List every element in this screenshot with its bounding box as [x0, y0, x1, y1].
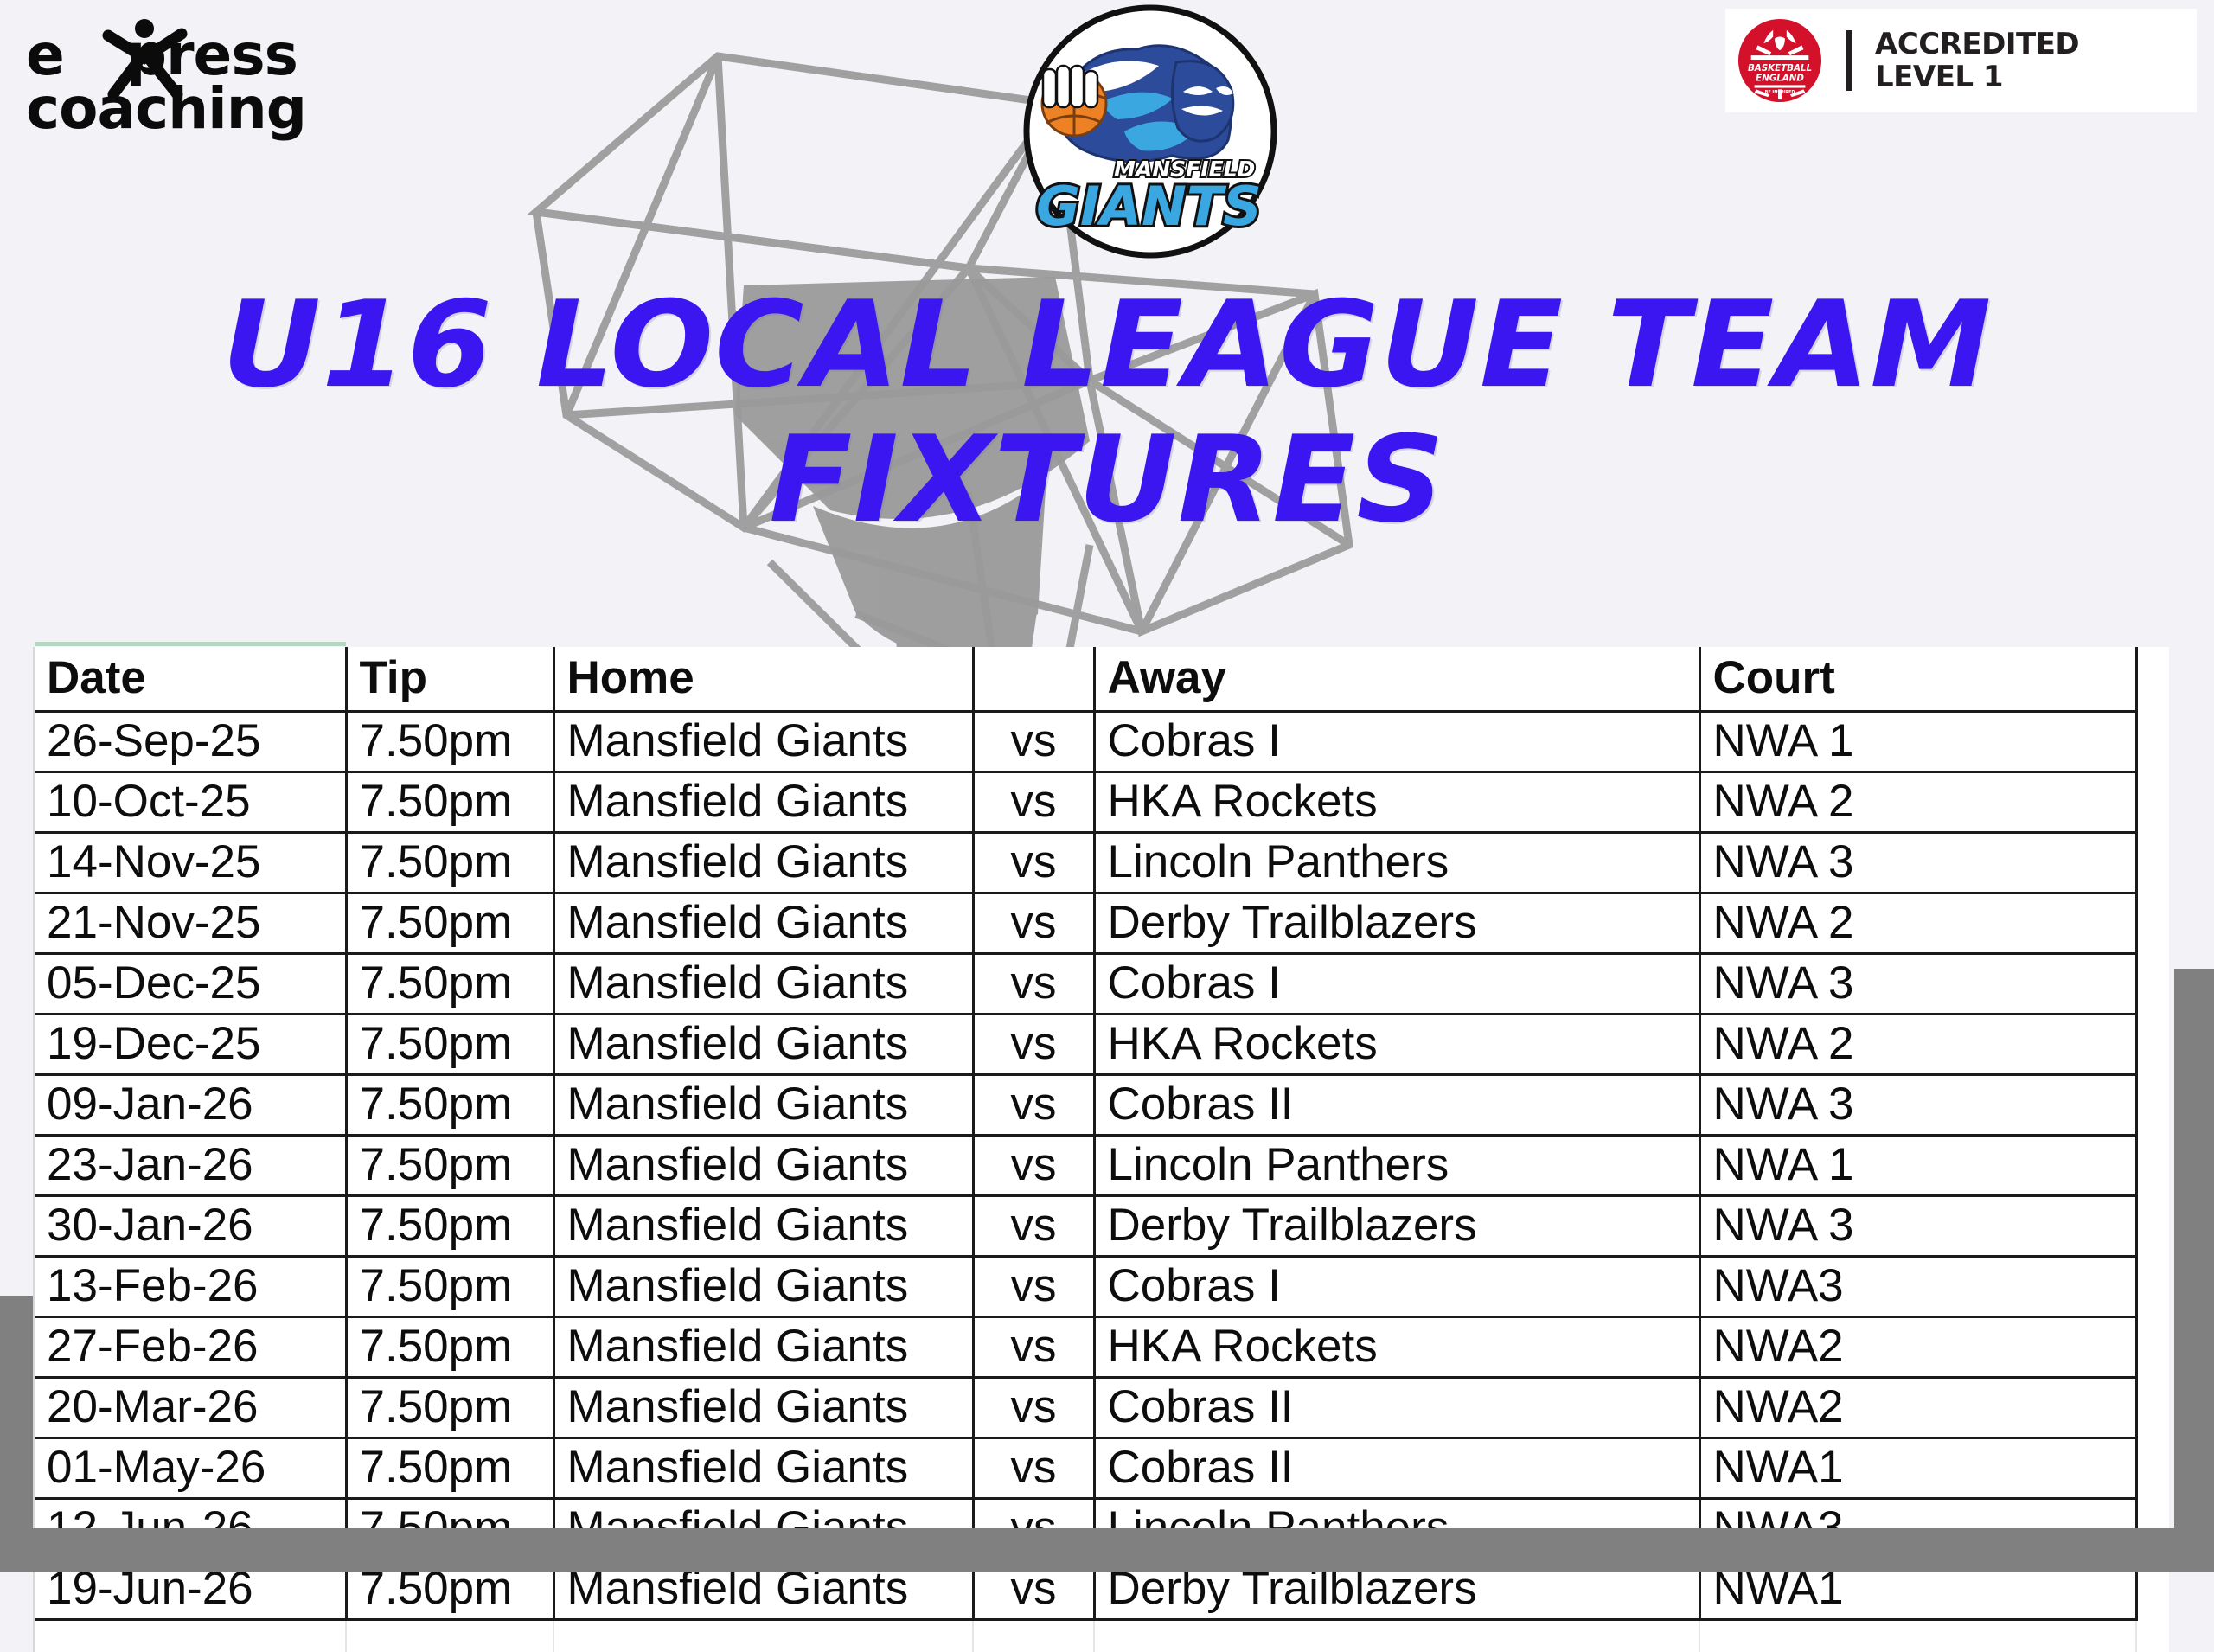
row-spare-cell: [2136, 833, 2169, 893]
fixture-court[interactable]: NWA 1: [1699, 1136, 2136, 1196]
table-row[interactable]: 30-Jan-267.50pmMansfield GiantsvsDerby T…: [35, 1196, 2169, 1257]
table-row[interactable]: 10-Oct-257.50pmMansfield GiantsvsHKA Roc…: [35, 772, 2169, 833]
fixture-court[interactable]: NWA 2: [1699, 1015, 2136, 1075]
basketball-england-logo-icon: BASKETBALL ENGLAND BE INSPIRED: [1737, 18, 1822, 103]
empty-cell[interactable]: [35, 1620, 346, 1652]
fixture-date[interactable]: 23-Jan-26: [35, 1136, 346, 1196]
table-header-row: Date Tip Home Away Court: [35, 647, 2169, 712]
fixture-court[interactable]: NWA 3: [1699, 1196, 2136, 1257]
empty-cell[interactable]: [346, 1620, 553, 1652]
fixture-date[interactable]: 27-Feb-26: [35, 1317, 346, 1378]
fixture-tip-time[interactable]: 7.50pm: [346, 1015, 553, 1075]
fixture-away-team[interactable]: Lincoln Panthers: [1094, 1136, 1699, 1196]
fixture-date[interactable]: 01-May-26: [35, 1438, 346, 1499]
fixture-vs-label[interactable]: vs: [973, 893, 1094, 954]
fixture-court[interactable]: NWA3: [1699, 1257, 2136, 1317]
row-spare-cell: [2136, 772, 2169, 833]
fixture-date[interactable]: 30-Jan-26: [35, 1196, 346, 1257]
empty-cell[interactable]: [1094, 1620, 1699, 1652]
frame-edge-bottom: [0, 1528, 2214, 1572]
fixture-vs-label[interactable]: vs: [973, 772, 1094, 833]
fixture-tip-time[interactable]: 7.50pm: [346, 1378, 553, 1438]
fixture-home-team[interactable]: Mansfield Giants: [553, 1378, 973, 1438]
fixture-vs-label[interactable]: vs: [973, 1075, 1094, 1136]
fixture-home-team[interactable]: Mansfield Giants: [553, 833, 973, 893]
empty-cell[interactable]: [1699, 1620, 2136, 1652]
column-header-vs[interactable]: [973, 647, 1094, 712]
fixture-court[interactable]: NWA1: [1699, 1438, 2136, 1499]
fixture-tip-time[interactable]: 7.50pm: [346, 1136, 553, 1196]
fixture-date[interactable]: 10-Oct-25: [35, 772, 346, 833]
fixture-home-team[interactable]: Mansfield Giants: [553, 1075, 973, 1136]
fixture-date[interactable]: 05-Dec-25: [35, 954, 346, 1015]
express-logo-line2: coaching: [26, 75, 306, 142]
fixture-court[interactable]: NWA 3: [1699, 954, 2136, 1015]
row-spare-cell: [2136, 1196, 2169, 1257]
table-row[interactable]: 01-May-267.50pmMansfield GiantsvsCobras …: [35, 1438, 2169, 1499]
table-row[interactable]: 19-Dec-257.50pmMansfield GiantsvsHKA Roc…: [35, 1015, 2169, 1075]
fixture-vs-label[interactable]: vs: [973, 712, 1094, 772]
row-spare-cell: [2136, 1075, 2169, 1136]
frame-edge-right: [2174, 969, 2214, 1572]
column-header-court[interactable]: Court: [1699, 647, 2136, 712]
fixture-away-team[interactable]: Cobras II: [1094, 1438, 1699, 1499]
fixture-away-team[interactable]: HKA Rockets: [1094, 1317, 1699, 1378]
fixture-court[interactable]: NWA 1: [1699, 712, 2136, 772]
fixture-tip-time[interactable]: 7.50pm: [346, 712, 553, 772]
be-line1: BASKETBALL: [1748, 63, 1812, 74]
table-row[interactable]: 27-Feb-267.50pmMansfield GiantsvsHKA Roc…: [35, 1317, 2169, 1378]
fixture-away-team[interactable]: Derby Trailblazers: [1094, 1196, 1699, 1257]
fixture-tip-time[interactable]: 7.50pm: [346, 772, 553, 833]
fixtures-table-body: 26-Sep-257.50pmMansfield GiantsvsCobras …: [35, 712, 2169, 1652]
fixture-court[interactable]: NWA2: [1699, 1378, 2136, 1438]
accreditation-divider: [1846, 30, 1852, 91]
empty-spare-cell: [2136, 1620, 2169, 1652]
table-row[interactable]: 23-Jan-267.50pmMansfield GiantsvsLincoln…: [35, 1136, 2169, 1196]
fixture-away-team[interactable]: Cobras II: [1094, 1378, 1699, 1438]
fixture-court[interactable]: NWA 2: [1699, 772, 2136, 833]
fixture-home-team[interactable]: Mansfield Giants: [553, 1196, 973, 1257]
row-spare-cell: [2136, 1317, 2169, 1378]
table-row[interactable]: 21-Nov-257.50pmMansfield GiantsvsDerby T…: [35, 893, 2169, 954]
fixture-vs-label[interactable]: vs: [973, 954, 1094, 1015]
crest-giants-text: GIANTS: [1036, 175, 1262, 238]
fixture-home-team[interactable]: Mansfield Giants: [553, 772, 973, 833]
fixture-away-team[interactable]: Cobras II: [1094, 1075, 1699, 1136]
fixture-date[interactable]: 14-Nov-25: [35, 833, 346, 893]
row-spare-cell: [2136, 712, 2169, 772]
level-label: LEVEL 1: [1875, 61, 2079, 93]
row-spare-cell: [2136, 954, 2169, 1015]
fixture-home-team[interactable]: Mansfield Giants: [553, 1438, 973, 1499]
column-header-away[interactable]: Away: [1094, 647, 1699, 712]
table-row[interactable]: 14-Nov-257.50pmMansfield GiantsvsLincoln…: [35, 833, 2169, 893]
fixture-date[interactable]: 19-Dec-25: [35, 1015, 346, 1075]
table-row[interactable]: 05-Dec-257.50pmMansfield GiantsvsCobras …: [35, 954, 2169, 1015]
row-spare-cell: [2136, 893, 2169, 954]
fixture-away-team[interactable]: Cobras I: [1094, 954, 1699, 1015]
fixture-vs-label[interactable]: vs: [973, 1378, 1094, 1438]
fixture-court[interactable]: NWA 3: [1699, 833, 2136, 893]
fixtures-spreadsheet[interactable]: Date Tip Home Away Court 26-Sep-257.50pm…: [33, 647, 2169, 1652]
be-line2: ENGLAND: [1756, 74, 1804, 84]
fixture-tip-time[interactable]: 7.50pm: [346, 1438, 553, 1499]
fixture-away-team[interactable]: Derby Trailblazers: [1094, 893, 1699, 954]
accredited-label: ACCREDITED: [1875, 28, 2079, 61]
table-row[interactable]: 26-Sep-257.50pmMansfield GiantsvsCobras …: [35, 712, 2169, 772]
fixture-court[interactable]: NWA2: [1699, 1317, 2136, 1378]
fixture-tip-time[interactable]: 7.50pm: [346, 1196, 553, 1257]
fixture-vs-label[interactable]: vs: [973, 1015, 1094, 1075]
fixture-home-team[interactable]: Mansfield Giants: [553, 1317, 973, 1378]
fixtures-table[interactable]: Date Tip Home Away Court 26-Sep-257.50pm…: [35, 647, 2169, 1652]
fixture-tip-time[interactable]: 7.50pm: [346, 893, 553, 954]
table-empty-row[interactable]: [35, 1620, 2169, 1652]
fixture-home-team[interactable]: Mansfield Giants: [553, 712, 973, 772]
fixture-vs-label[interactable]: vs: [973, 1257, 1094, 1317]
fixture-tip-time[interactable]: 7.50pm: [346, 954, 553, 1015]
fixture-home-team[interactable]: Mansfield Giants: [553, 954, 973, 1015]
express-coaching-logo: epress coaching: [17, 22, 381, 143]
row-spare-cell: [2136, 1015, 2169, 1075]
row-spare-cell: [2136, 1378, 2169, 1438]
fixture-court[interactable]: NWA 3: [1699, 1075, 2136, 1136]
fixture-date[interactable]: 20-Mar-26: [35, 1378, 346, 1438]
row-spare-cell: [2136, 1136, 2169, 1196]
fixture-home-team[interactable]: Mansfield Giants: [553, 1136, 973, 1196]
fixture-date[interactable]: 26-Sep-25: [35, 712, 346, 772]
fixture-home-team[interactable]: Mansfield Giants: [553, 1257, 973, 1317]
empty-cell[interactable]: [973, 1620, 1094, 1652]
empty-cell[interactable]: [553, 1620, 973, 1652]
fixture-vs-label[interactable]: vs: [973, 1317, 1094, 1378]
table-row[interactable]: 13-Feb-267.50pmMansfield GiantsvsCobras …: [35, 1257, 2169, 1317]
fixture-away-team[interactable]: HKA Rockets: [1094, 772, 1699, 833]
column-header-date[interactable]: Date: [35, 647, 346, 712]
table-row[interactable]: 09-Jan-267.50pmMansfield GiantsvsCobras …: [35, 1075, 2169, 1136]
column-header-tip[interactable]: Tip: [346, 647, 553, 712]
fixture-date[interactable]: 13-Feb-26: [35, 1257, 346, 1317]
fixture-tip-time[interactable]: 7.50pm: [346, 833, 553, 893]
fixture-away-team[interactable]: Cobras I: [1094, 712, 1699, 772]
fixture-away-team[interactable]: Lincoln Panthers: [1094, 833, 1699, 893]
fixture-home-team[interactable]: Mansfield Giants: [553, 1015, 973, 1075]
fixture-tip-time[interactable]: 7.50pm: [346, 1075, 553, 1136]
poster-header: epress coaching MANSFIELD: [0, 0, 2214, 640]
column-header-home[interactable]: Home: [553, 647, 973, 712]
cell-selection-indicator: [35, 642, 346, 646]
row-spare-cell: [2136, 1438, 2169, 1499]
fixture-vs-label[interactable]: vs: [973, 1438, 1094, 1499]
mansfield-giants-crest-icon: MANSFIELD GIANTS: [1021, 2, 1280, 261]
fixture-date[interactable]: 09-Jan-26: [35, 1075, 346, 1136]
fixture-date[interactable]: 21-Nov-25: [35, 893, 346, 954]
fixture-vs-label[interactable]: vs: [973, 833, 1094, 893]
fixture-tip-time[interactable]: 7.50pm: [346, 1257, 553, 1317]
row-spare-cell: [2136, 1257, 2169, 1317]
fixture-away-team[interactable]: Cobras I: [1094, 1257, 1699, 1317]
table-row[interactable]: 20-Mar-267.50pmMansfield GiantsvsCobras …: [35, 1378, 2169, 1438]
fixture-court[interactable]: NWA 2: [1699, 893, 2136, 954]
fixture-home-team[interactable]: Mansfield Giants: [553, 893, 973, 954]
fixture-vs-label[interactable]: vs: [973, 1196, 1094, 1257]
fixture-away-team[interactable]: HKA Rockets: [1094, 1015, 1699, 1075]
fixture-tip-time[interactable]: 7.50pm: [346, 1317, 553, 1378]
column-header-spare: [2136, 647, 2169, 712]
fixture-vs-label[interactable]: vs: [973, 1136, 1094, 1196]
accreditation-badge: BASKETBALL ENGLAND BE INSPIRED ACCREDITE…: [1725, 9, 2197, 112]
